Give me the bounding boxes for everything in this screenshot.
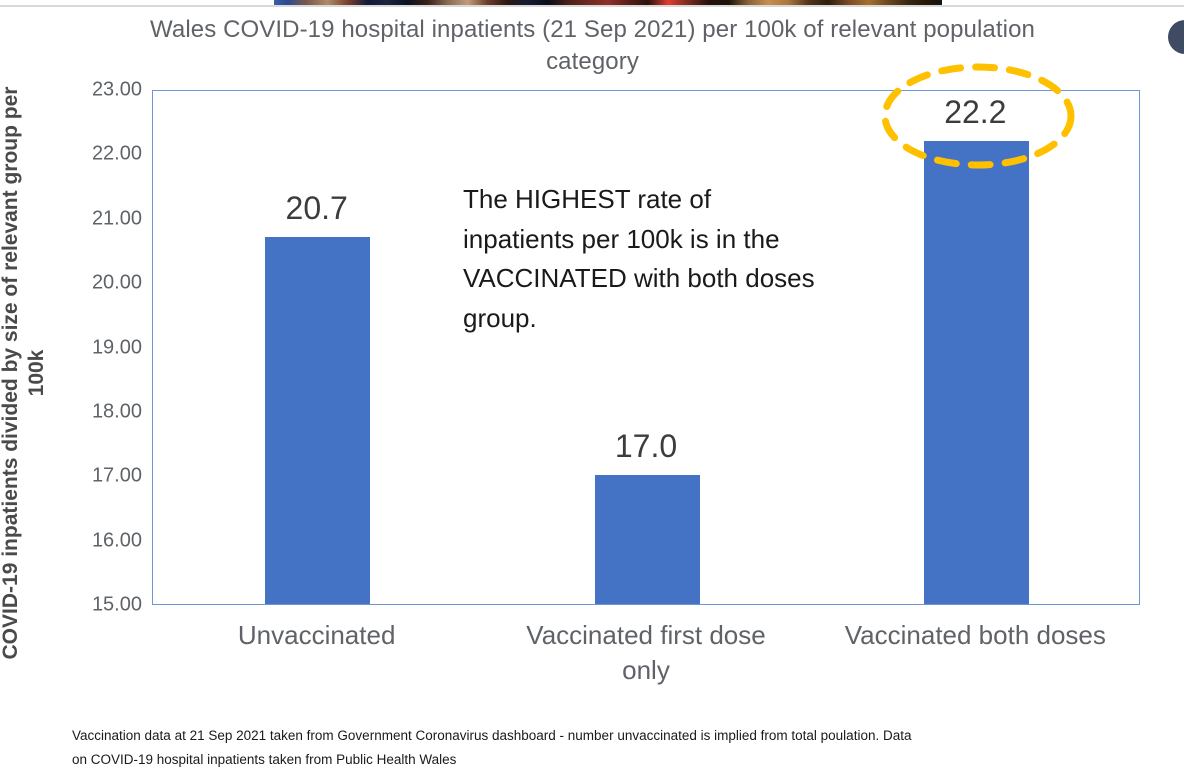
annotation-callout-line: VACCINATED with both doses [463, 259, 893, 299]
bar-data-label: 22.2 [885, 94, 1065, 131]
bar-slot [924, 89, 1029, 604]
x-axis-category-label: Vaccinated both doses [810, 618, 1140, 653]
annotation-callout-line: inpatients per 100k is in the [463, 220, 893, 260]
plot-area [152, 90, 1140, 605]
y-axis-tick-label: 22.00 [62, 143, 142, 166]
x-axis-category-label: Unvaccinated [152, 618, 482, 653]
annotation-callout-line: The HIGHEST rate of [463, 180, 893, 220]
y-axis-tick-label: 19.00 [62, 336, 142, 359]
y-axis-title-line-2: 100k [24, 23, 50, 723]
footnote-line-2: on COVID-19 hospital inpatients taken fr… [72, 748, 1167, 772]
y-axis-tick-label: 18.00 [62, 400, 142, 423]
y-axis-title: COVID-19 inpatients divided by size of r… [0, 23, 54, 723]
bar[interactable] [595, 475, 700, 604]
chart-title-line-2: category [546, 48, 639, 75]
y-axis-tick-label: 17.00 [62, 465, 142, 488]
top-divider-line [0, 5, 1184, 7]
y-axis-tick-label: 23.00 [62, 79, 142, 102]
y-axis-tick-label: 21.00 [62, 207, 142, 230]
y-axis-tick-label: 20.00 [62, 272, 142, 295]
x-axis-category-label-line: Vaccinated first dose [481, 618, 811, 653]
bar[interactable] [265, 237, 370, 604]
x-axis-category-label-line: Unvaccinated [152, 618, 482, 653]
footnote-line-1: Vaccination data at 21 Sep 2021 taken fr… [72, 724, 1167, 748]
chart-title-line-1: Wales COVID-19 hospital inpatients (21 S… [150, 16, 1035, 43]
x-axis-category-label: Vaccinated first doseonly [481, 618, 811, 688]
bar-slot [265, 89, 370, 604]
annotation-callout-text: The HIGHEST rate ofinpatients per 100k i… [463, 180, 893, 338]
chart-footnote: Vaccination data at 21 Sep 2021 taken fr… [72, 724, 1167, 771]
x-axis-category-label-line: Vaccinated both doses [810, 618, 1140, 653]
bar-data-label: 20.7 [227, 190, 407, 227]
y-axis-title-line-1: COVID-19 inpatients divided by size of r… [0, 87, 22, 660]
bar[interactable] [924, 141, 1029, 605]
right-edge-circle-decoration [1168, 20, 1184, 54]
bar-data-label: 17.0 [556, 428, 736, 465]
chart-title: Wales COVID-19 hospital inpatients (21 S… [110, 14, 1075, 77]
bar-slot [595, 89, 700, 604]
y-axis-tick-label: 15.00 [62, 594, 142, 617]
y-axis-tick-label: 16.00 [62, 529, 142, 552]
annotation-callout-line: group. [463, 299, 893, 339]
x-axis-category-label-line: only [481, 653, 811, 688]
